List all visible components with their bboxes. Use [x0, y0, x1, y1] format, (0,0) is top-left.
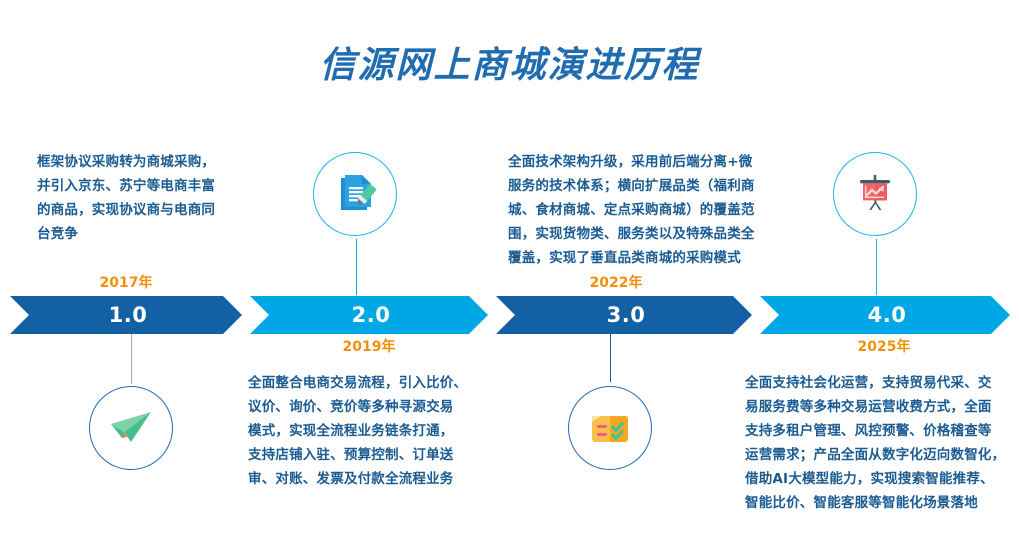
- description-line: 框架协议采购转为商城采购，: [37, 150, 242, 174]
- milestone-icon-circle-3[interactable]: [568, 386, 652, 470]
- milestone-version-label-2: 2.0: [352, 303, 391, 327]
- description-line: 全面技术架构升级，采用前后端分离+微: [508, 150, 783, 174]
- milestone-description-1: 框架协议采购转为商城采购， 并引入京东、苏宁等电商丰富 的商品，实现协议商与电商…: [37, 150, 242, 246]
- milestone-icon-circle-4[interactable]: [833, 152, 917, 236]
- milestone-version-label-1: 1.0: [109, 303, 148, 327]
- milestone-chevron-1[interactable]: 1.0: [10, 296, 242, 334]
- description-line: 易服务费等多种交易运营收费方式，全面: [745, 395, 1017, 419]
- description-line: 全面整合电商交易流程，引入比价、: [248, 371, 488, 395]
- checklist-icon: [587, 405, 633, 451]
- description-line: 支持店铺入驻、预算控制、订单送: [248, 443, 488, 467]
- description-line: 并引入京东、苏宁等电商丰富: [37, 174, 242, 198]
- milestone-chevron-3[interactable]: 3.0: [496, 296, 752, 334]
- connector-line-3: [610, 334, 611, 382]
- page-title: 信源网上商城演进历程: [0, 44, 1019, 87]
- milestone-icon-circle-1[interactable]: [89, 386, 173, 470]
- presentation-chart-icon: [852, 171, 898, 217]
- connector-line-4: [876, 239, 877, 295]
- description-line: 城、食材商城、定点采购商城）的覆盖范: [508, 198, 783, 222]
- milestone-description-3: 全面技术架构升级，采用前后端分离+微 服务的技术体系；横向扩展品类（福利商 城、…: [508, 150, 783, 270]
- description-line: 审、对账、发票及付款全流程业务: [248, 467, 488, 491]
- description-line: 模式，实现全流程业务链条打通，: [248, 419, 488, 443]
- connector-line-1: [131, 334, 132, 384]
- milestone-year-label-2: 2019年: [309, 336, 429, 356]
- milestone-version-label-3: 3.0: [607, 303, 646, 327]
- connector-line-2: [356, 239, 357, 295]
- milestone-chevron-4[interactable]: 4.0: [760, 296, 1010, 334]
- milestone-icon-circle-2[interactable]: [313, 152, 397, 236]
- milestone-version-label-4: 4.0: [868, 303, 907, 327]
- milestone-year-label-4: 2025年: [824, 336, 944, 356]
- description-line: 服务的技术体系；横向扩展品类（福利商: [508, 174, 783, 198]
- milestone-year-label-1: 2017年: [66, 272, 186, 292]
- milestone-description-2: 全面整合电商交易流程，引入比价、 议价、询价、竞价等多种寻源交易 模式，实现全流…: [248, 371, 488, 491]
- description-line: 支持多租户管理、风控预警、价格稽查等: [745, 419, 1017, 443]
- description-line: 议价、询价、竞价等多种寻源交易: [248, 395, 488, 419]
- milestone-year-label-3: 2022年: [556, 272, 676, 292]
- description-line: 智能比价、智能客服等智能化场景落地: [745, 491, 1017, 515]
- timeline-bar: 1.0 2.0 3.0 4.0: [0, 296, 1019, 334]
- description-line: 借助AI大模型能力，实现搜索智能推荐、: [745, 467, 1017, 491]
- document-edit-icon: [332, 171, 378, 217]
- description-line: 的商品，实现协议商与电商同: [37, 198, 242, 222]
- description-line: 覆盖，实现了垂直品类商城的采购模式: [508, 246, 783, 270]
- milestone-description-4: 全面支持社会化运营，支持贸易代采、交 易服务费等多种交易运营收费方式，全面 支持…: [745, 371, 1017, 515]
- description-line: 台竞争: [37, 222, 242, 246]
- paper-plane-icon: [108, 405, 154, 451]
- description-line: 运营需求；产品全面从数字化迈向数智化，: [745, 443, 1017, 467]
- milestone-chevron-2[interactable]: 2.0: [250, 296, 488, 334]
- description-line: 全面支持社会化运营，支持贸易代采、交: [745, 371, 1017, 395]
- description-line: 围，实现货物类、服务类以及特殊品类全: [508, 222, 783, 246]
